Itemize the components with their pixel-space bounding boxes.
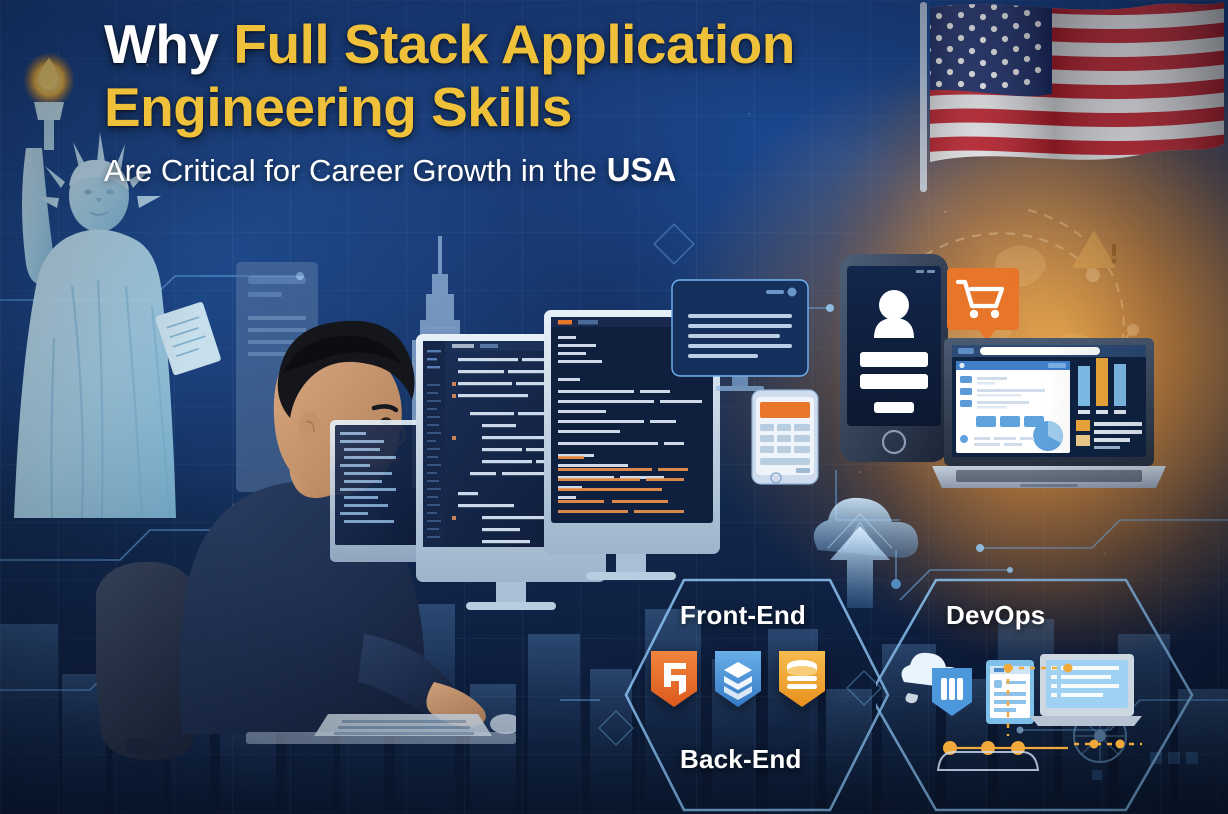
stack-layers-shield-badge[interactable] bbox=[712, 648, 764, 710]
login-submit-button bbox=[874, 402, 914, 413]
container-shield-icon bbox=[932, 668, 972, 716]
shopping-cart-icon[interactable] bbox=[945, 266, 1021, 342]
subtitle-usa: USA bbox=[607, 151, 677, 189]
headline-why: Why bbox=[104, 13, 219, 75]
bar-chart bbox=[1078, 358, 1126, 414]
headline-block: Why Full Stack Application Engineering S… bbox=[104, 16, 934, 189]
laptop-analytics-dashboard[interactable] bbox=[928, 336, 1170, 506]
poster-root: Why Full Stack Application Engineering S… bbox=[0, 0, 1228, 814]
headline-line-2: Engineering Skills bbox=[104, 79, 934, 136]
floating-ui-panel[interactable] bbox=[670, 278, 810, 396]
subtitle-text: Are Critical for Career Growth in the bbox=[104, 153, 597, 189]
database-shield-badge[interactable] bbox=[776, 648, 828, 710]
tech-badges-row bbox=[648, 648, 828, 710]
headline-engineering-skills: Engineering Skills bbox=[104, 76, 572, 138]
laptop-device bbox=[1030, 654, 1142, 726]
devops-cluster bbox=[898, 648, 1148, 778]
html5-shield-badge[interactable] bbox=[648, 648, 700, 710]
back-end-label: Back-End bbox=[680, 744, 802, 775]
us-flag bbox=[912, 0, 1228, 210]
headline-full-stack-application: Full Stack Application bbox=[233, 13, 794, 75]
devops-label: DevOps bbox=[946, 600, 1045, 631]
headline-line-1: Why Full Stack Application bbox=[104, 16, 934, 73]
subtitle: Are Critical for Career Growth in the US… bbox=[104, 151, 934, 189]
login-field-2 bbox=[860, 374, 928, 389]
mobile-form-screen[interactable] bbox=[750, 388, 820, 486]
front-end-label: Front-End bbox=[680, 600, 806, 631]
pie-chart bbox=[1033, 421, 1063, 451]
login-field-1 bbox=[860, 352, 928, 367]
